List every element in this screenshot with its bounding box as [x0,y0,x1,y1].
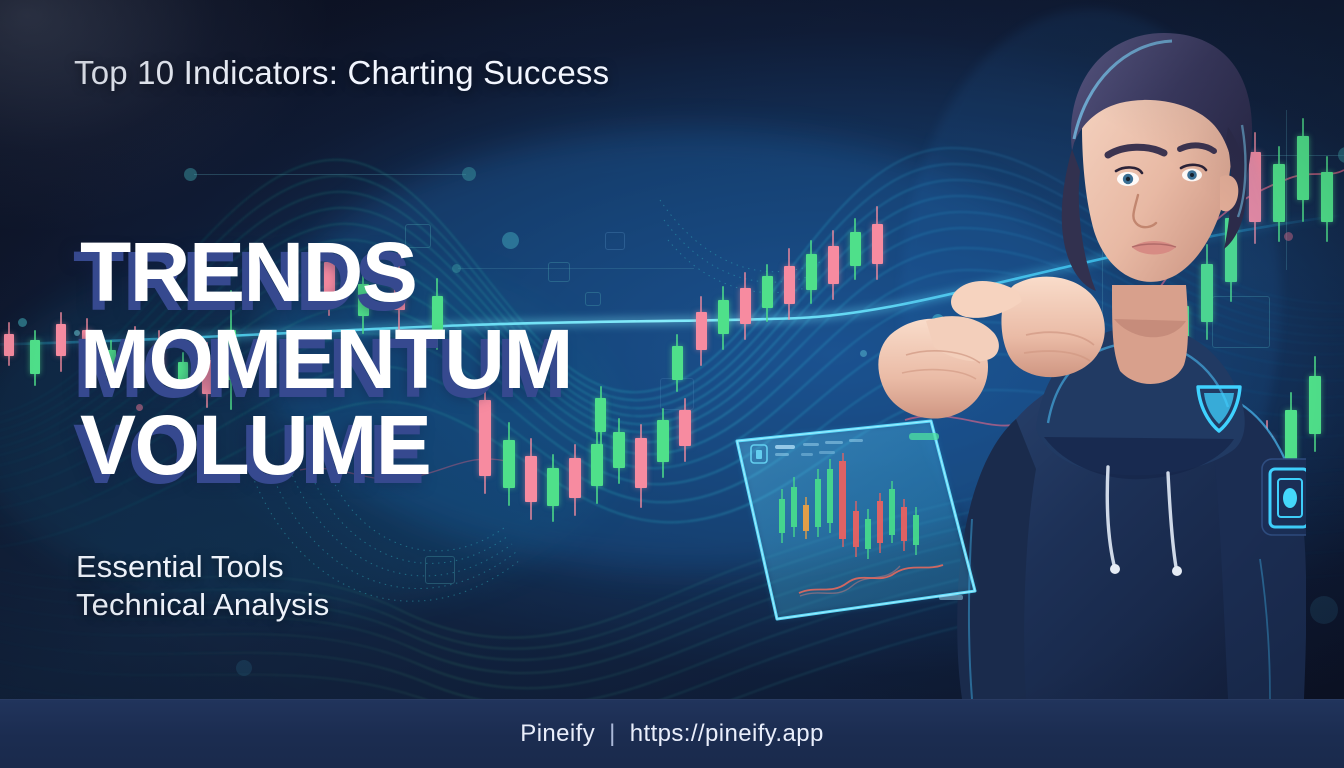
subtitle-line-essential-tools: Essential Tools [76,548,329,586]
subtitle-line-technical-analysis: Technical Analysis [76,586,329,624]
footer-bar: Pineify | https://pineify.app [0,699,1344,768]
footer-brand-name: Pineify [520,720,595,748]
headline-line-trends: TRENDS [80,232,572,313]
headline-line-volume: VOLUME [80,405,572,486]
transparent-tablet [713,415,993,630]
banner-canvas: Top 10 Indicators: Charting Success TREN… [0,0,1344,768]
page-subtitle: Essential Tools Technical Analysis [76,548,329,624]
page-eyebrow-title: Top 10 Indicators: Charting Success [74,54,609,92]
headline-line-momentum: MOMENTUM [80,319,572,400]
arm-patch-badge [1262,459,1306,535]
footer-credit: Pineify | https://pineify.app [520,720,823,748]
footer-separator: | [609,720,616,748]
page-headline: TRENDS MOMENTUM VOLUME [80,232,572,486]
footer-url[interactable]: https://pineify.app [630,720,824,748]
